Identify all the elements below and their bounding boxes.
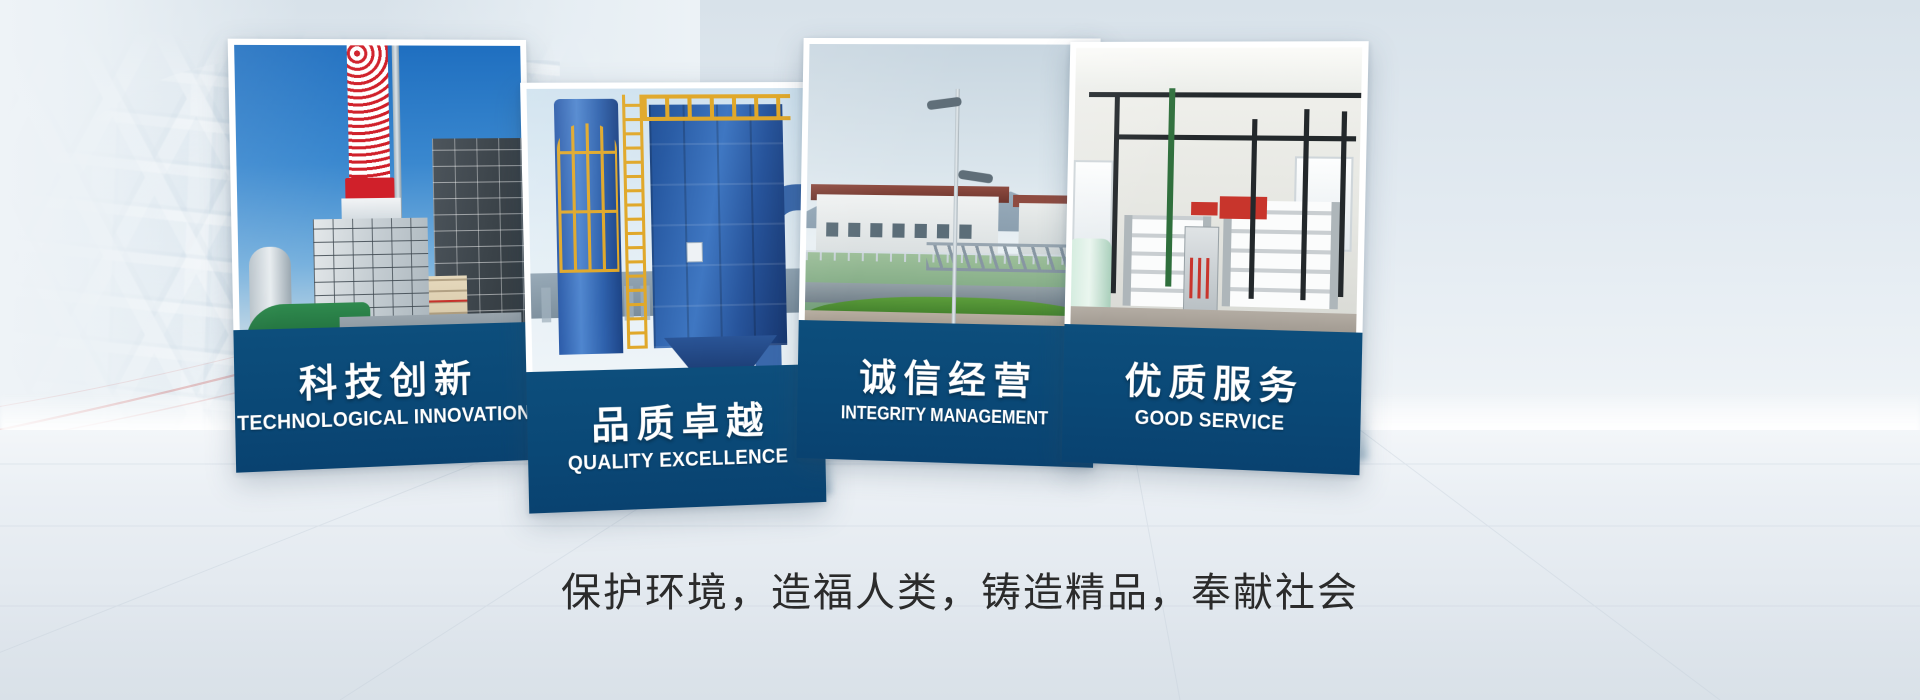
panel-title-cn: 优质服务 — [1117, 361, 1305, 408]
panel-caption: 诚信经营 INTEGRITY MANAGEMENT — [796, 320, 1095, 468]
value-panel-integrity-management[interactable]: 诚信经营 INTEGRITY MANAGEMENT — [796, 38, 1100, 468]
value-panel-technological-innovation[interactable]: 科技创新 TECHNOLOGICAL INNOVATION — [228, 39, 534, 473]
panel-photo-wastewater-plant — [805, 44, 1095, 327]
panel-title-cn: 科技创新 — [291, 359, 478, 406]
panel-title-en: TECHNOLOGICAL INNOVATION — [237, 402, 531, 437]
panel-title-cn: 诚信经营 — [852, 357, 1039, 402]
panel-caption: 品质卓越 QUALITY EXCELLENCE — [526, 364, 826, 514]
company-tagline: 保护环境，造福人类，铸造精品，奉献社会 — [0, 560, 1920, 618]
panel-title-en: QUALITY EXCELLENCE — [567, 445, 788, 476]
panel-title-en: GOOD SERVICE — [1135, 407, 1285, 436]
panel-photo-power-plant — [234, 45, 525, 330]
panel-photo-ro-membrane-room — [1070, 47, 1362, 332]
panel-title-en: INTEGRITY MANAGEMENT — [841, 402, 1049, 429]
panel-caption: 科技创新 TECHNOLOGICAL INNOVATION — [233, 322, 534, 473]
value-panel-quality-excellence[interactable]: 品质卓越 QUALITY EXCELLENCE — [520, 82, 826, 514]
value-panel-good-service[interactable]: 优质服务 GOOD SERVICE — [1062, 41, 1369, 475]
panel-title-cn: 品质卓越 — [584, 401, 771, 447]
panel-photo-dust-collector — [526, 88, 817, 372]
company-values-banner: 科技创新 TECHNOLOGICAL INNOVATION — [0, 0, 1920, 700]
panel-caption: 优质服务 GOOD SERVICE — [1062, 324, 1363, 475]
